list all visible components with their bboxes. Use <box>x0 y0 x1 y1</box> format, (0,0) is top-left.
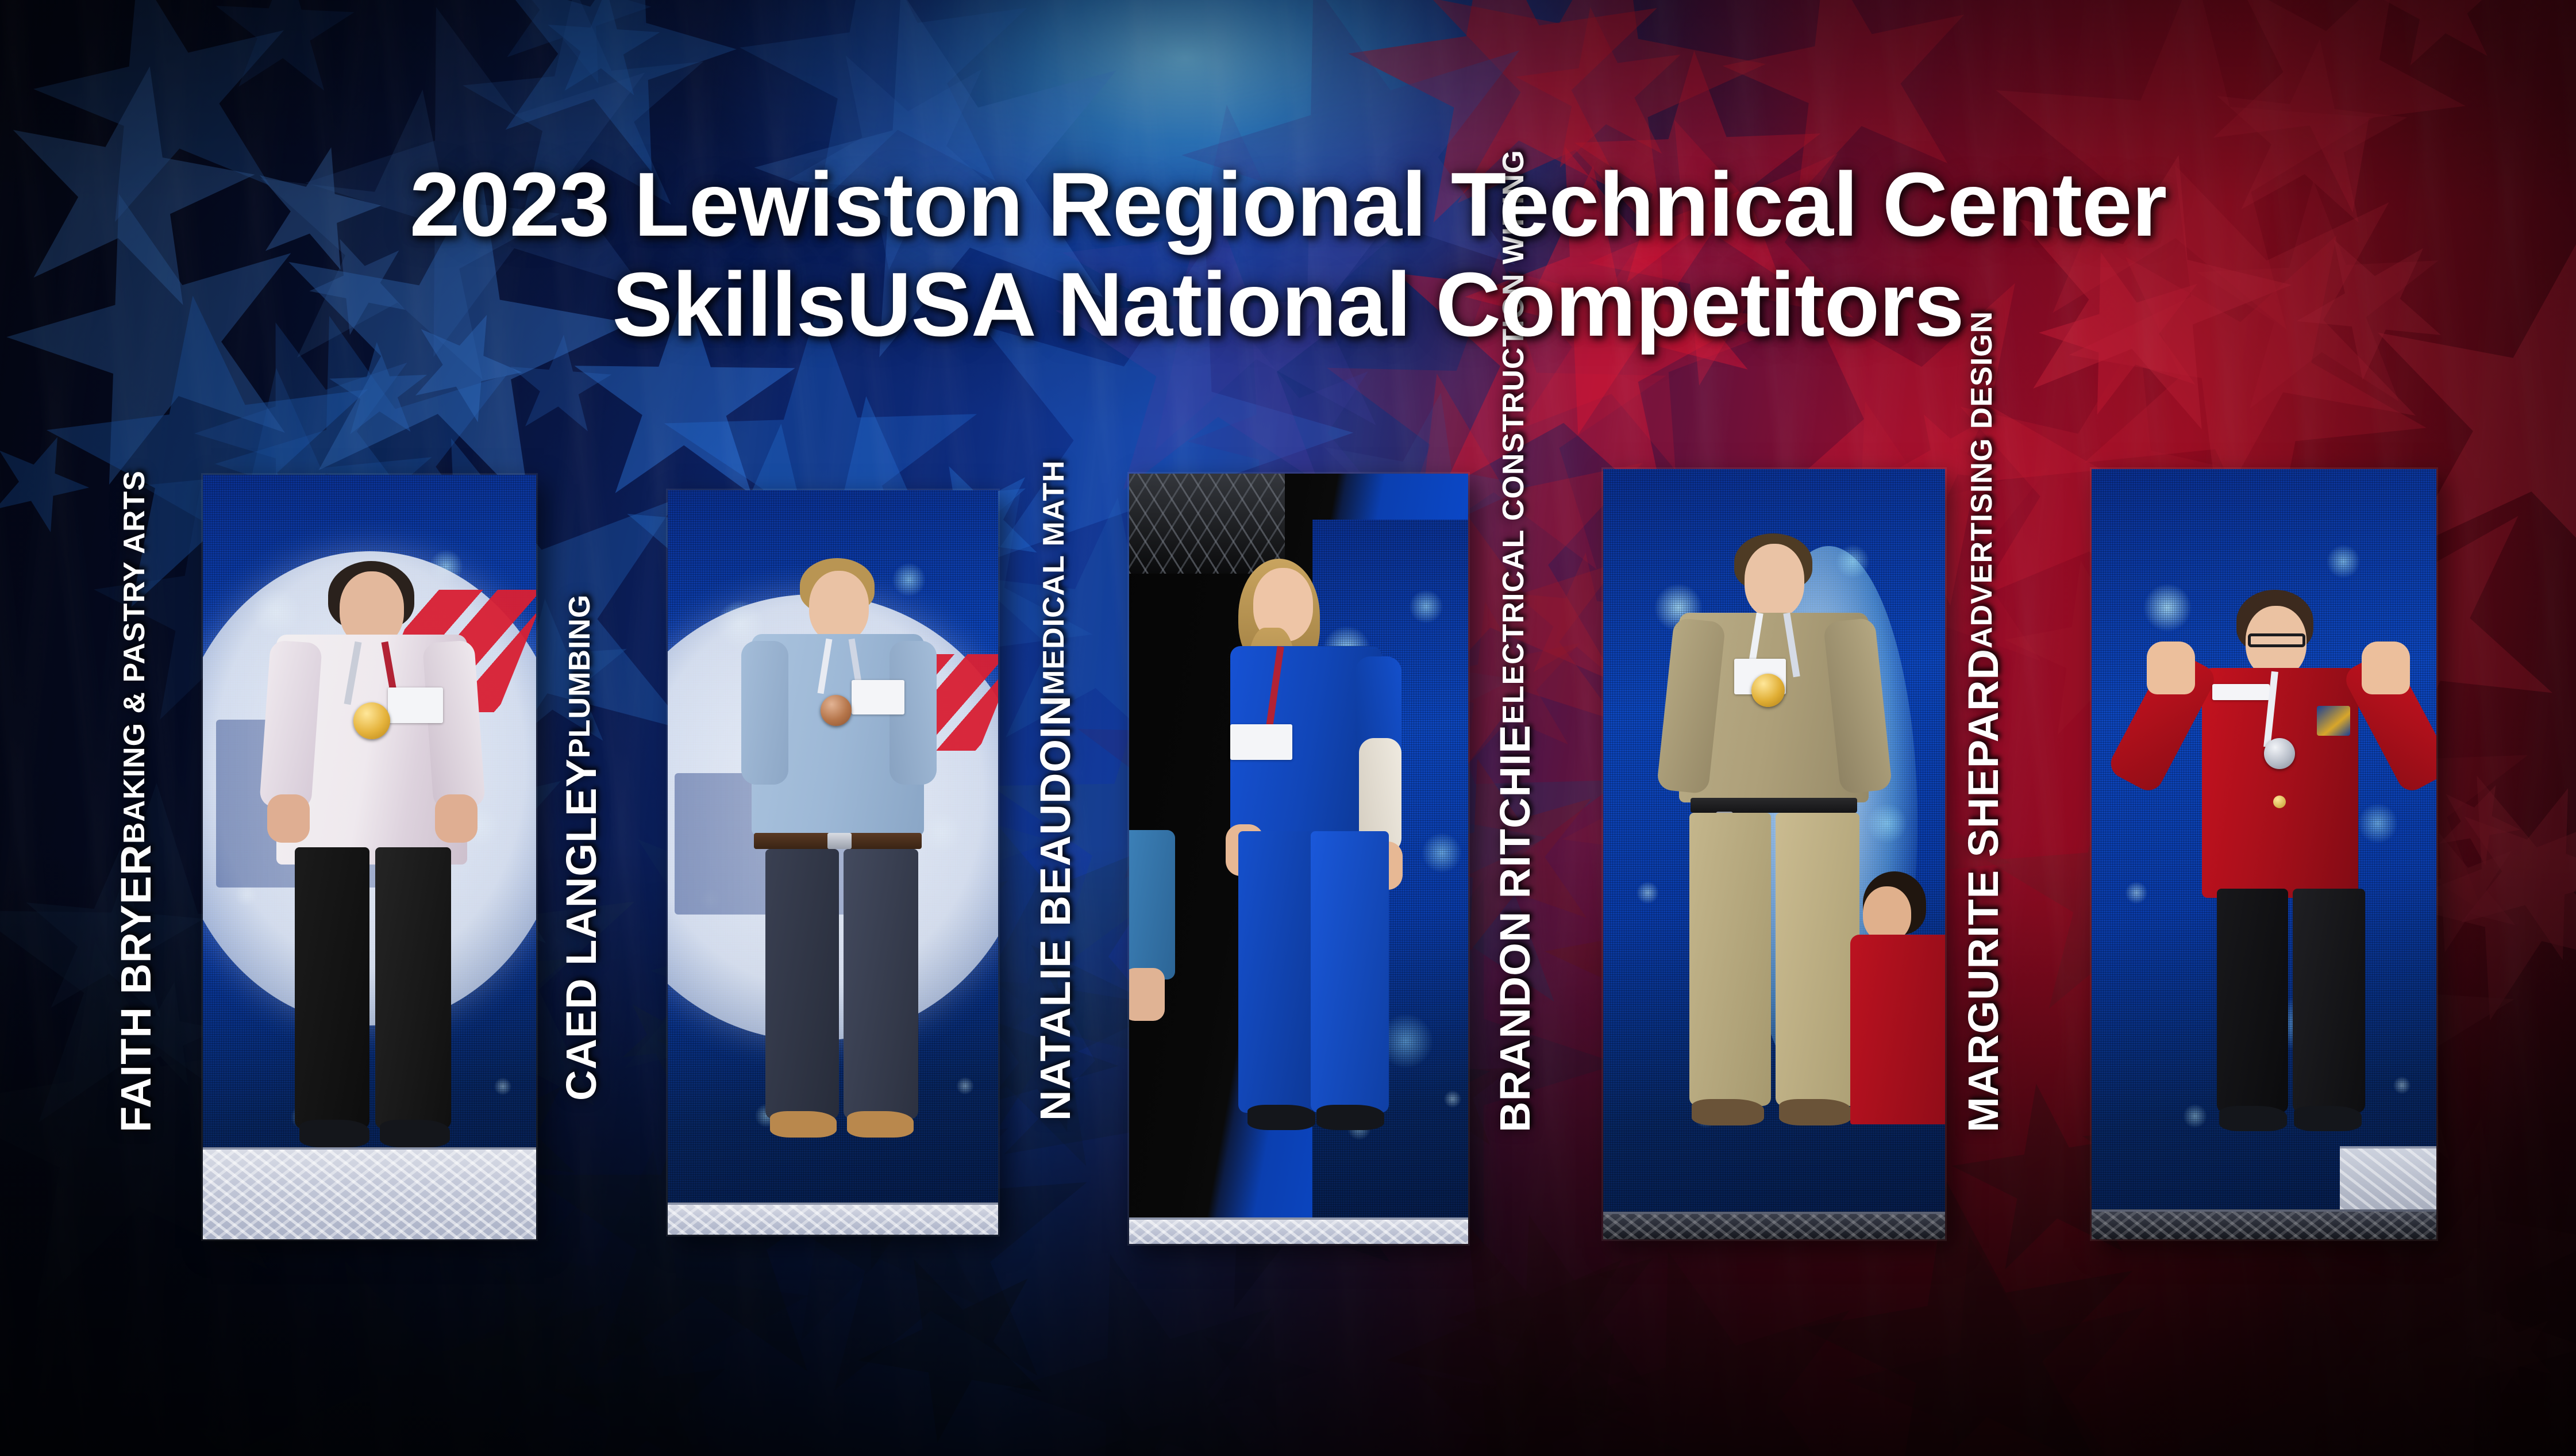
silver-medal-icon <box>2264 738 2295 769</box>
name-badge <box>1230 724 1292 760</box>
name-badge <box>2212 684 2270 700</box>
competitor-name: MARGURITE SHEPARD <box>1962 648 2005 1132</box>
belt <box>1691 798 1857 813</box>
bronze-medal-icon <box>821 695 852 726</box>
competitor-photo-margurite-shepard[interactable] <box>2092 469 2436 1239</box>
title-line-1: 2023 Lewiston Regional Technical Center <box>69 155 2507 255</box>
blazer-button-icon <box>2273 796 2286 808</box>
poster-title: 2023 Lewiston Regional Technical Center … <box>0 155 2576 355</box>
raised-hand-right <box>2362 641 2410 694</box>
competitor-label-natalie-beaudoin: NATALIE BEAUDOIN MEDICAL MATH <box>1034 517 1077 1121</box>
competitor-photo-caed-langley[interactable] <box>668 490 998 1235</box>
title-line-2: SkillsUSA National Competitors <box>69 255 2507 355</box>
competitor-name: CAED LANGLEY <box>560 758 603 1101</box>
competitor-trade: MEDICAL MATH <box>1039 460 1069 695</box>
podium <box>1129 1217 1468 1244</box>
podium <box>668 1203 998 1235</box>
podium <box>2092 1209 2436 1239</box>
competitor-photo-brandon-ritchie[interactable] <box>1603 469 1945 1239</box>
gold-medal-icon <box>353 702 390 739</box>
competitor-label-faith-bryer: FAITH BRYER BAKING & PASTRY ARTS <box>115 552 157 1132</box>
name-badge <box>852 680 904 714</box>
competitor-photo-natalie-beaudoin[interactable] <box>1129 474 1468 1244</box>
glasses-icon <box>2248 633 2305 647</box>
poster-canvas: 2023 Lewiston Regional Technical Center … <box>0 0 2576 1456</box>
name-badge <box>388 687 443 723</box>
competitor-trade: BAKING & PASTRY ARTS <box>120 471 149 844</box>
gold-medal-icon <box>1751 674 1785 707</box>
competitor-name: FAITH BRYER <box>115 844 157 1132</box>
podium <box>1603 1212 1945 1239</box>
competitor-name: NATALIE BEAUDOIN <box>1034 695 1077 1121</box>
competitor-trade: ADVERTISING DESIGN <box>1967 311 1997 648</box>
stage-truss-icon <box>1129 474 1285 574</box>
podium <box>203 1147 536 1239</box>
competitor-trade: PLUMBING <box>565 594 595 758</box>
competitor-name: BRANDON RITCHIE <box>1494 724 1537 1132</box>
competitor-photo-faith-bryer[interactable] <box>203 475 536 1239</box>
raised-hand-left <box>2147 641 2195 694</box>
skillsusa-patch-icon <box>2317 706 2350 736</box>
podium-step <box>2340 1146 2436 1209</box>
competitor-label-margurite-shepard: MARGURITE SHEPARD ADVERTISING DESIGN <box>1962 512 2005 1132</box>
competitor-label-caed-langley: CAED LANGLEY PLUMBING <box>560 601 603 1101</box>
competitor-label-brandon-ritchie: BRANDON RITCHIE ELECTRICAL CONSTRUCTION … <box>1494 512 1537 1132</box>
belt-buckle-icon <box>827 833 852 849</box>
